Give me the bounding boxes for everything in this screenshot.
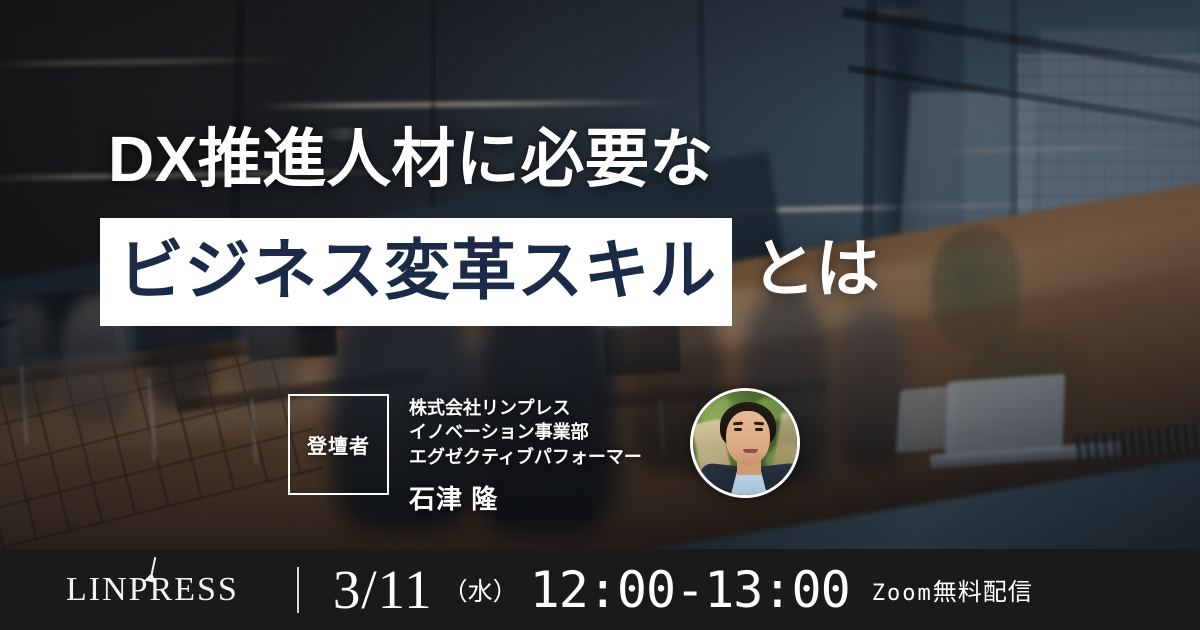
portrait-eye	[755, 428, 763, 431]
delivery-free-label: 無料配信	[933, 579, 1033, 606]
speaker-name: 石津 隆	[409, 479, 642, 516]
headline-suffix: とは	[752, 237, 880, 307]
portrait-mouth	[743, 449, 758, 453]
event-day-of-week: （水）	[443, 572, 518, 608]
headline-highlight-box: ビジネス変革スキル	[100, 218, 732, 326]
webinar-banner: DX推進人材に必要な ビジネス変革スキル とは 登壇者 株式会社リンプレス イノ…	[0, 0, 1200, 630]
delivery-note: Zoom無料配信	[872, 572, 1033, 607]
headline-line-2: ビジネス変革スキル とは	[100, 218, 880, 326]
portrait-eye	[734, 428, 742, 431]
speaker-details: 株式会社リンプレス イノベーション事業部 エグゼクティブパフォーマー 石津 隆	[409, 394, 642, 516]
headline-line-1: DX推進人材に必要な	[108, 127, 714, 191]
event-date: 3/11	[333, 562, 433, 617]
event-time: 12:00-13:00	[530, 565, 850, 615]
portrait-face	[726, 411, 770, 465]
speaker-title: エグゼクティブパフォーマー	[409, 445, 642, 469]
speaker-department: イノベーション事業部	[409, 420, 642, 444]
speaker-badge: 登壇者	[288, 394, 389, 495]
footer-divider	[297, 567, 299, 613]
speaker-company: 株式会社リンプレス	[409, 396, 642, 420]
speaker-portrait	[690, 388, 800, 498]
speaker-block: 登壇者 株式会社リンプレス イノベーション事業部 エグゼクティブパフォーマー 石…	[288, 394, 642, 516]
delivery-platform: Zoom	[872, 581, 933, 606]
logo-pen-icon	[150, 557, 157, 579]
linpress-logo: LINPRESS	[66, 573, 239, 607]
footer-bar: LINPRESS 3/11 （水） 12:00-13:00 Zoom無料配信	[0, 549, 1200, 630]
